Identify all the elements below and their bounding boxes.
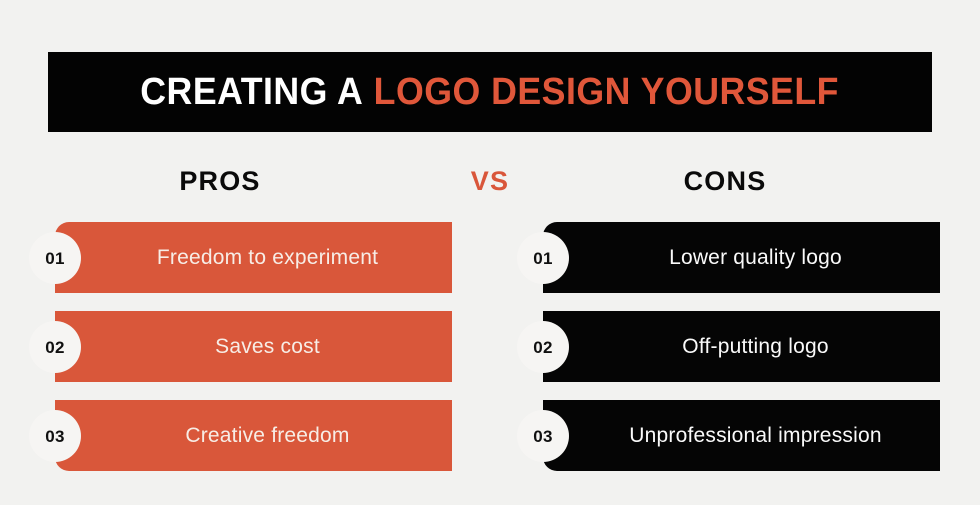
cons-bar-3[interactable]: Unprofessional impression — [543, 400, 940, 471]
column-headers: PROS VS CONS — [0, 160, 980, 202]
pros-label-3: Creative freedom — [147, 424, 359, 447]
pros-item-1[interactable]: Freedom to experiment 01 — [55, 222, 452, 293]
page-title-accent: LOGO DESIGN YOURSELF — [374, 71, 839, 113]
cons-number-2: 02 — [533, 339, 553, 356]
header-pros: PROS — [120, 160, 320, 202]
page-title-leading: CREATING A — [141, 71, 364, 113]
pros-number-3: 03 — [45, 428, 65, 445]
pros-bar-2[interactable]: Saves cost — [55, 311, 452, 382]
cons-label-1: Lower quality logo — [631, 246, 852, 269]
infographic-canvas: CREATING A LOGO DESIGN YOURSELF PROS VS … — [0, 0, 980, 505]
pros-bar-3[interactable]: Creative freedom — [55, 400, 452, 471]
header-vs: VS — [440, 160, 540, 202]
cons-item-2[interactable]: Off-putting logo 02 — [543, 311, 940, 382]
cons-item-3[interactable]: Unprofessional impression 03 — [543, 400, 940, 471]
pros-label-1: Freedom to experiment — [119, 246, 388, 269]
pros-column: Freedom to experiment 01 Saves cost 02 C… — [55, 222, 452, 471]
pros-number-badge-2: 02 — [29, 321, 81, 373]
cons-number-badge-3: 03 — [517, 410, 569, 462]
pros-number-2: 02 — [45, 339, 65, 356]
cons-number-1: 01 — [533, 250, 553, 267]
cons-item-1[interactable]: Lower quality logo 01 — [543, 222, 940, 293]
cons-number-badge-1: 01 — [517, 232, 569, 284]
cons-label-3: Unprofessional impression — [591, 424, 891, 447]
page-title: CREATING A LOGO DESIGN YOURSELF — [141, 73, 840, 111]
cons-label-2: Off-putting logo — [644, 335, 838, 358]
cons-bar-1[interactable]: Lower quality logo — [543, 222, 940, 293]
pros-number-badge-1: 01 — [29, 232, 81, 284]
cons-bar-2[interactable]: Off-putting logo — [543, 311, 940, 382]
pros-number-1: 01 — [45, 250, 65, 267]
title-banner: CREATING A LOGO DESIGN YOURSELF — [48, 52, 932, 132]
pros-number-badge-3: 03 — [29, 410, 81, 462]
pros-label-2: Saves cost — [177, 335, 330, 358]
cons-number-3: 03 — [533, 428, 553, 445]
cons-column: Lower quality logo 01 Off-putting logo 0… — [543, 222, 940, 471]
cons-number-badge-2: 02 — [517, 321, 569, 373]
pros-item-3[interactable]: Creative freedom 03 — [55, 400, 452, 471]
pros-item-2[interactable]: Saves cost 02 — [55, 311, 452, 382]
header-cons: CONS — [625, 160, 825, 202]
pros-bar-1[interactable]: Freedom to experiment — [55, 222, 452, 293]
